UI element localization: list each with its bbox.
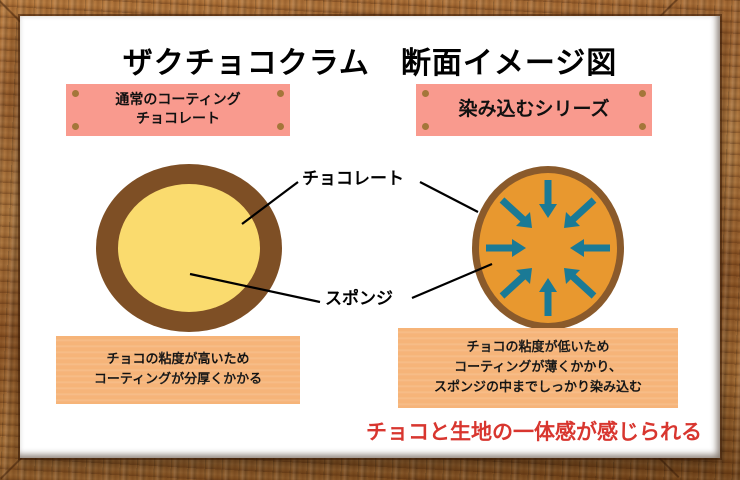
right-header-line1: 染み込むシリーズ (458, 97, 609, 123)
corner-dot-icon (422, 90, 429, 97)
corner-dot-icon (639, 90, 646, 97)
right-sponge-core (479, 173, 617, 323)
right-caption-line2: コーティングが薄くかかり、 (434, 358, 642, 378)
right-panel-caption: チョコの粘度が低いため コーティングが薄くかかり、 スポンジの中までしっかり染み… (398, 328, 678, 408)
right-cross-section-diagram (472, 166, 624, 330)
left-caption-line1: チョコの粘度が高いため (94, 350, 262, 370)
corner-dot-icon (422, 123, 429, 130)
infographic-canvas: ザクチョコクラム 断面イメージ図 通常のコーティング チョコレート 染み込むシリ… (20, 16, 720, 458)
left-caption-line2: コーティングが分厚くかかる (94, 370, 262, 390)
callout-sponge: スポンジ (325, 284, 393, 309)
page-title: ザクチョコクラム 断面イメージ図 (20, 38, 720, 82)
right-caption-line1: チョコの粘度が低いため (434, 338, 642, 358)
right-caption-line3: スポンジの中までしっかり染み込む (434, 378, 642, 398)
corner-dot-icon (72, 90, 79, 97)
left-cross-section-diagram (96, 164, 282, 332)
corner-dot-icon (277, 90, 284, 97)
right-panel-header: 染み込むシリーズ (416, 84, 652, 136)
tagline: チョコと生地の一体感が感じられる (366, 416, 702, 446)
corner-dot-icon (639, 123, 646, 130)
left-header-line2: チョコレート (115, 110, 240, 129)
left-header-line1: 通常のコーティング (115, 91, 240, 110)
left-panel-caption: チョコの粘度が高いため コーティングが分厚くかかる (56, 336, 300, 404)
callout-chocolate: チョコレート (302, 164, 404, 189)
left-sponge-core (118, 184, 260, 312)
left-panel-header: 通常のコーティング チョコレート (66, 84, 290, 136)
corner-dot-icon (72, 123, 79, 130)
leader-chocolate-right (420, 182, 478, 212)
wooden-frame: ザクチョコクラム 断面イメージ図 通常のコーティング チョコレート 染み込むシリ… (0, 0, 740, 480)
corner-dot-icon (277, 123, 284, 130)
